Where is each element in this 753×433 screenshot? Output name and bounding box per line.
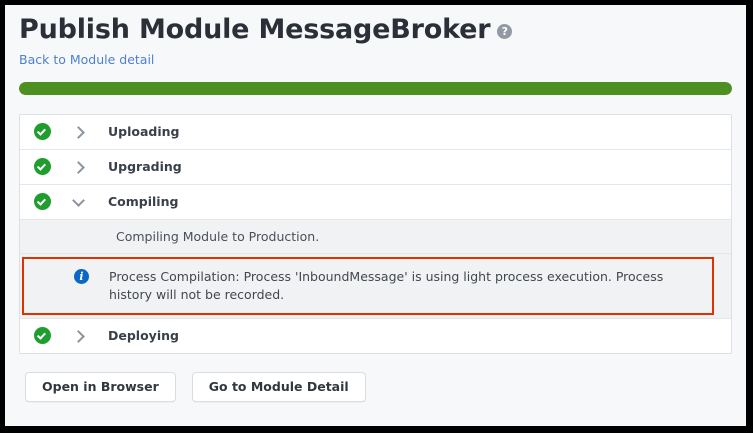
step-row-uploading[interactable]: Uploading [20,115,731,150]
page-title: Publish Module MessageBroker [19,15,490,45]
compilation-warning-text: Process Compilation: Process 'InboundMes… [109,268,702,304]
compiling-message-row: i Process Compilation: Process 'InboundM… [20,254,731,319]
go-to-module-detail-button[interactable]: Go to Module Detail [192,372,366,402]
compiling-detail-text: Compiling Module to Production. [20,220,731,254]
page-title-row: Publish Module MessageBroker ? [19,15,746,45]
chevron-right-icon[interactable] [73,126,85,138]
step-row-compiling[interactable]: Compiling [20,185,731,220]
step-row-deploying[interactable]: Deploying [20,319,731,353]
step-label-deploying: Deploying [108,328,179,343]
page-header: Publish Module MessageBroker ? Back to M… [5,5,746,68]
step-label-upgrading: Upgrading [108,159,182,174]
chevron-right-icon[interactable] [73,330,85,342]
chevron-right-icon[interactable] [73,161,85,173]
app-window: Publish Module MessageBroker ? Back to M… [5,5,746,426]
step-label-compiling: Compiling [108,194,178,209]
check-circle-icon [34,327,51,344]
step-label-uploading: Uploading [108,124,179,139]
footer-button-bar: Open in Browser Go to Module Detail [25,372,746,402]
check-circle-icon [34,193,51,210]
check-circle-icon [34,123,51,140]
publish-steps-card: Uploading Upgrading Compiling Compiling … [19,114,732,354]
check-circle-icon [34,158,51,175]
help-circle-icon[interactable]: ? [497,24,512,39]
publish-progress-bar [19,82,732,95]
info-circle-icon: i [74,269,89,284]
back-to-module-detail-link[interactable]: Back to Module detail [19,52,154,67]
step-row-upgrading[interactable]: Upgrading [20,150,731,185]
chevron-down-icon[interactable] [73,196,85,208]
publish-progress-fill [19,82,732,95]
highlighted-message-box: i Process Compilation: Process 'InboundM… [22,257,714,315]
open-in-browser-button[interactable]: Open in Browser [25,372,176,402]
